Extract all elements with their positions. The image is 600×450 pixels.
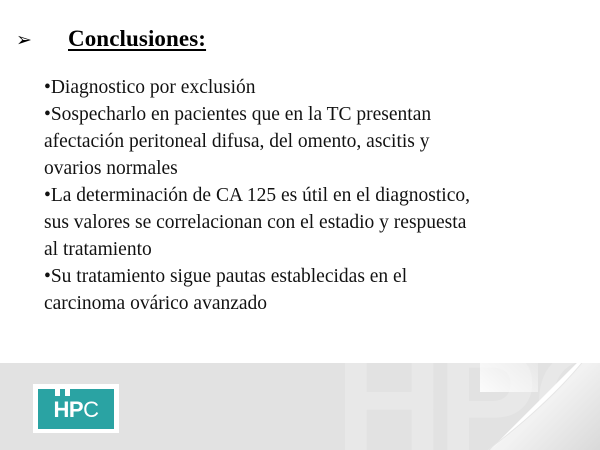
hpc-watermark: HPC: [335, 363, 600, 450]
logo-notch-right-icon: [65, 389, 70, 396]
logo-notch-left-icon: [55, 389, 60, 396]
slide: ➢ Conclusiones: •Diagnostico por exclusi…: [0, 0, 600, 450]
page-title: Conclusiones:: [68, 26, 206, 52]
hpc-logo-text-c: C: [83, 397, 98, 422]
list-item: •Su tratamiento sigue pautas establecida…: [44, 263, 564, 317]
arrow-bullet-icon: ➢: [16, 31, 42, 50]
list-item: •La determinación de CA 125 es útil en e…: [44, 182, 564, 263]
hpc-watermark-c: C: [531, 363, 600, 450]
bullet-list: •Diagnostico por exclusión •Sospecharlo …: [44, 74, 564, 317]
hpc-logo-text: HPC: [38, 397, 114, 423]
slide-title-row: ➢ Conclusiones:: [0, 26, 600, 52]
footer-band: HPC HPC: [0, 363, 600, 450]
hpc-logo-plate: HPC: [38, 389, 114, 429]
hpc-logo-text-hp: HP: [54, 397, 84, 422]
list-item: •Diagnostico por exclusión: [44, 74, 564, 101]
hpc-watermark-hp: HP: [335, 363, 531, 450]
list-item: •Sospecharlo en pacientes que en la TC p…: [44, 101, 564, 182]
hpc-logo: HPC: [33, 384, 119, 433]
